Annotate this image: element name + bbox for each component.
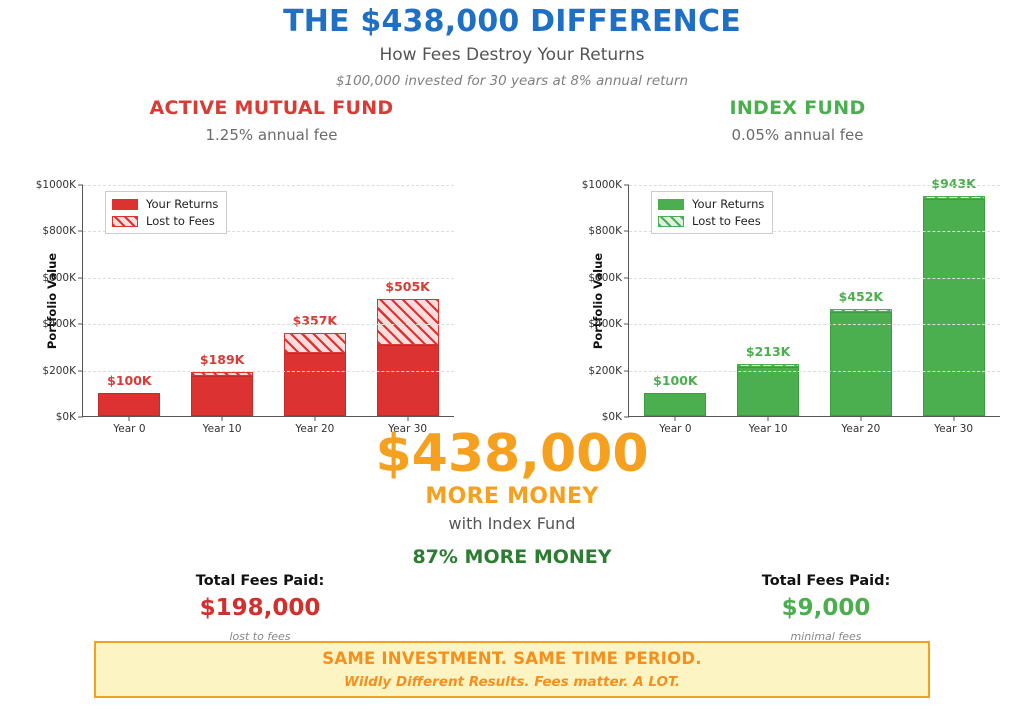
y-tick-label: $800K — [42, 225, 76, 237]
y-tick-label: $400K — [42, 318, 76, 330]
bar-segment-your-returns — [830, 312, 892, 416]
y-tick-mark — [624, 417, 629, 418]
fee-stat-label: Total Fees Paid: — [656, 573, 996, 589]
x-tick-mark — [222, 416, 223, 421]
x-tick-mark — [129, 416, 130, 421]
bar-year-0[interactable]: $100K — [644, 393, 706, 416]
callout-with-index-fund: with Index Fund — [0, 514, 1024, 533]
legend-label-fees: Lost to Fees — [146, 214, 215, 228]
legend-label-returns: Your Returns — [692, 197, 764, 211]
y-tick-mark — [624, 277, 629, 278]
callout-amount: $438,000 — [0, 428, 1024, 480]
y-tick-label: $0K — [602, 411, 622, 423]
legend-item-fees: Lost to Fees — [112, 214, 218, 228]
y-tick-label: $200K — [588, 365, 622, 377]
panel-title-index-fund: INDEX FUND — [570, 97, 1024, 119]
y-tick-label: $1000K — [36, 179, 76, 191]
panel-fee-index-fund: 0.05% annual fee — [570, 126, 1024, 144]
bar-segment-your-returns — [98, 393, 160, 416]
y-tick-label: $600K — [42, 272, 76, 284]
x-tick-mark — [860, 416, 861, 421]
bar-cell: Year 30$505K — [361, 185, 454, 416]
y-axis-label-right: Portfolio Value — [591, 253, 605, 349]
x-tick-mark — [768, 416, 769, 421]
y-tick-mark — [624, 370, 629, 371]
bar-year-0[interactable]: $100K — [98, 393, 160, 416]
legend-left: Your Returns Lost to Fees — [105, 191, 227, 234]
gridline — [629, 278, 1000, 279]
legend-swatch-returns-icon — [658, 199, 684, 210]
header: THE $438,000 DIFFERENCE How Fees Destroy… — [0, 0, 1024, 89]
panel-header-active-fund: ACTIVE MUTUAL FUND 1.25% annual fee — [44, 97, 499, 144]
bar-segment-your-returns — [191, 376, 253, 416]
gridline — [83, 324, 454, 325]
bar-value-label: $213K — [746, 344, 790, 359]
y-tick-mark — [78, 324, 83, 325]
bottom-banner: SAME INVESTMENT. SAME TIME PERIOD. Wildl… — [94, 641, 930, 698]
callout-more-money: MORE MONEY — [0, 484, 1024, 509]
y-tick-label: $0K — [56, 411, 76, 423]
callout-percent-more: 87% MORE MONEY — [0, 546, 1024, 568]
legend-label-returns: Your Returns — [146, 197, 218, 211]
gridline — [629, 324, 1000, 325]
legend-item-returns: Your Returns — [658, 197, 764, 211]
bar-year-10[interactable]: $189K — [191, 372, 253, 416]
legend-item-returns: Your Returns — [112, 197, 218, 211]
y-tick-label: $600K — [588, 272, 622, 284]
bar-year-20[interactable]: $357K — [284, 333, 346, 416]
bar-cell: Year 20$452K — [815, 185, 908, 416]
bar-year-30[interactable]: $943K — [923, 196, 985, 416]
page-title: THE $438,000 DIFFERENCE — [0, 6, 1024, 38]
fee-stat-index-fund: Total Fees Paid: $9,000 minimal fees — [656, 573, 996, 643]
banner-line-2: Wildly Different Results. Fees matter. A… — [344, 674, 680, 690]
fee-stat-amount: $198,000 — [90, 595, 430, 621]
x-tick-mark — [314, 416, 315, 421]
gridline — [83, 278, 454, 279]
x-tick-mark — [407, 416, 408, 421]
gridline — [629, 185, 1000, 186]
bar-year-30[interactable]: $505K — [377, 299, 439, 416]
chart-index-fund: Portfolio Value Your Returns Lost to Fee… — [546, 176, 1016, 426]
legend-item-fees: Lost to Fees — [658, 214, 764, 228]
panel-header-index-fund: INDEX FUND 0.05% annual fee — [570, 97, 1024, 144]
bar-segment-your-returns — [737, 367, 799, 416]
gridline — [629, 371, 1000, 372]
y-tick-mark — [78, 185, 83, 186]
y-tick-mark — [624, 185, 629, 186]
y-tick-mark — [78, 277, 83, 278]
chart-active-mutual-fund: Portfolio Value Your Returns Lost to Fee… — [0, 176, 470, 426]
y-tick-mark — [78, 417, 83, 418]
banner-line-1: SAME INVESTMENT. SAME TIME PERIOD. — [322, 649, 701, 668]
legend-swatch-fees-icon — [658, 216, 684, 227]
panel-fee-active-fund: 1.25% annual fee — [44, 126, 499, 144]
panel-title-active-fund: ACTIVE MUTUAL FUND — [44, 97, 499, 119]
bar-value-label: $943K — [931, 176, 975, 191]
plot-area-left: Your Returns Lost to Fees Year 0$100KYea… — [82, 185, 454, 417]
fee-stat-amount: $9,000 — [656, 595, 996, 621]
y-tick-mark — [624, 324, 629, 325]
x-tick-mark — [675, 416, 676, 421]
bar-year-10[interactable]: $213K — [737, 364, 799, 416]
bar-segment-your-returns — [644, 393, 706, 416]
page-subtitle: How Fees Destroy Your Returns — [0, 45, 1024, 65]
y-tick-label: $200K — [42, 365, 76, 377]
bar-cell: Year 30$943K — [907, 185, 1000, 416]
bar-segment-lost-to-fees — [377, 299, 439, 345]
fee-stat-active-fund: Total Fees Paid: $198,000 lost to fees — [90, 573, 430, 643]
callout-difference: $438,000 MORE MONEY with Index Fund 87% … — [0, 428, 1024, 568]
bar-segment-lost-to-fees — [284, 333, 346, 353]
legend-swatch-fees-icon — [112, 216, 138, 227]
infographic-root: THE $438,000 DIFFERENCE How Fees Destroy… — [0, 0, 1024, 710]
bar-segment-your-returns — [284, 353, 346, 416]
y-tick-mark — [78, 370, 83, 371]
gridline — [83, 371, 454, 372]
legend-right: Your Returns Lost to Fees — [651, 191, 773, 234]
y-tick-label: $1000K — [582, 179, 622, 191]
plot-area-right: Your Returns Lost to Fees Year 0$100KYea… — [628, 185, 1000, 417]
bar-value-label: $357K — [293, 313, 337, 328]
bar-value-label: $100K — [653, 373, 697, 388]
bar-value-label: $452K — [839, 289, 883, 304]
legend-label-fees: Lost to Fees — [692, 214, 761, 228]
bar-value-label: $505K — [385, 279, 429, 294]
y-tick-mark — [78, 231, 83, 232]
legend-swatch-returns-icon — [112, 199, 138, 210]
bar-segment-your-returns — [377, 345, 439, 416]
y-axis-label-left: Portfolio Value — [45, 253, 59, 349]
bar-value-label: $189K — [200, 352, 244, 367]
gridline — [83, 185, 454, 186]
y-tick-mark — [624, 231, 629, 232]
fee-stat-label: Total Fees Paid: — [90, 573, 430, 589]
bar-cell: Year 20$357K — [269, 185, 362, 416]
page-assumption-note: $100,000 invested for 30 years at 8% ann… — [0, 73, 1024, 89]
x-tick-mark — [953, 416, 954, 421]
bar-value-label: $100K — [107, 373, 151, 388]
y-tick-label: $400K — [588, 318, 622, 330]
y-tick-label: $800K — [588, 225, 622, 237]
